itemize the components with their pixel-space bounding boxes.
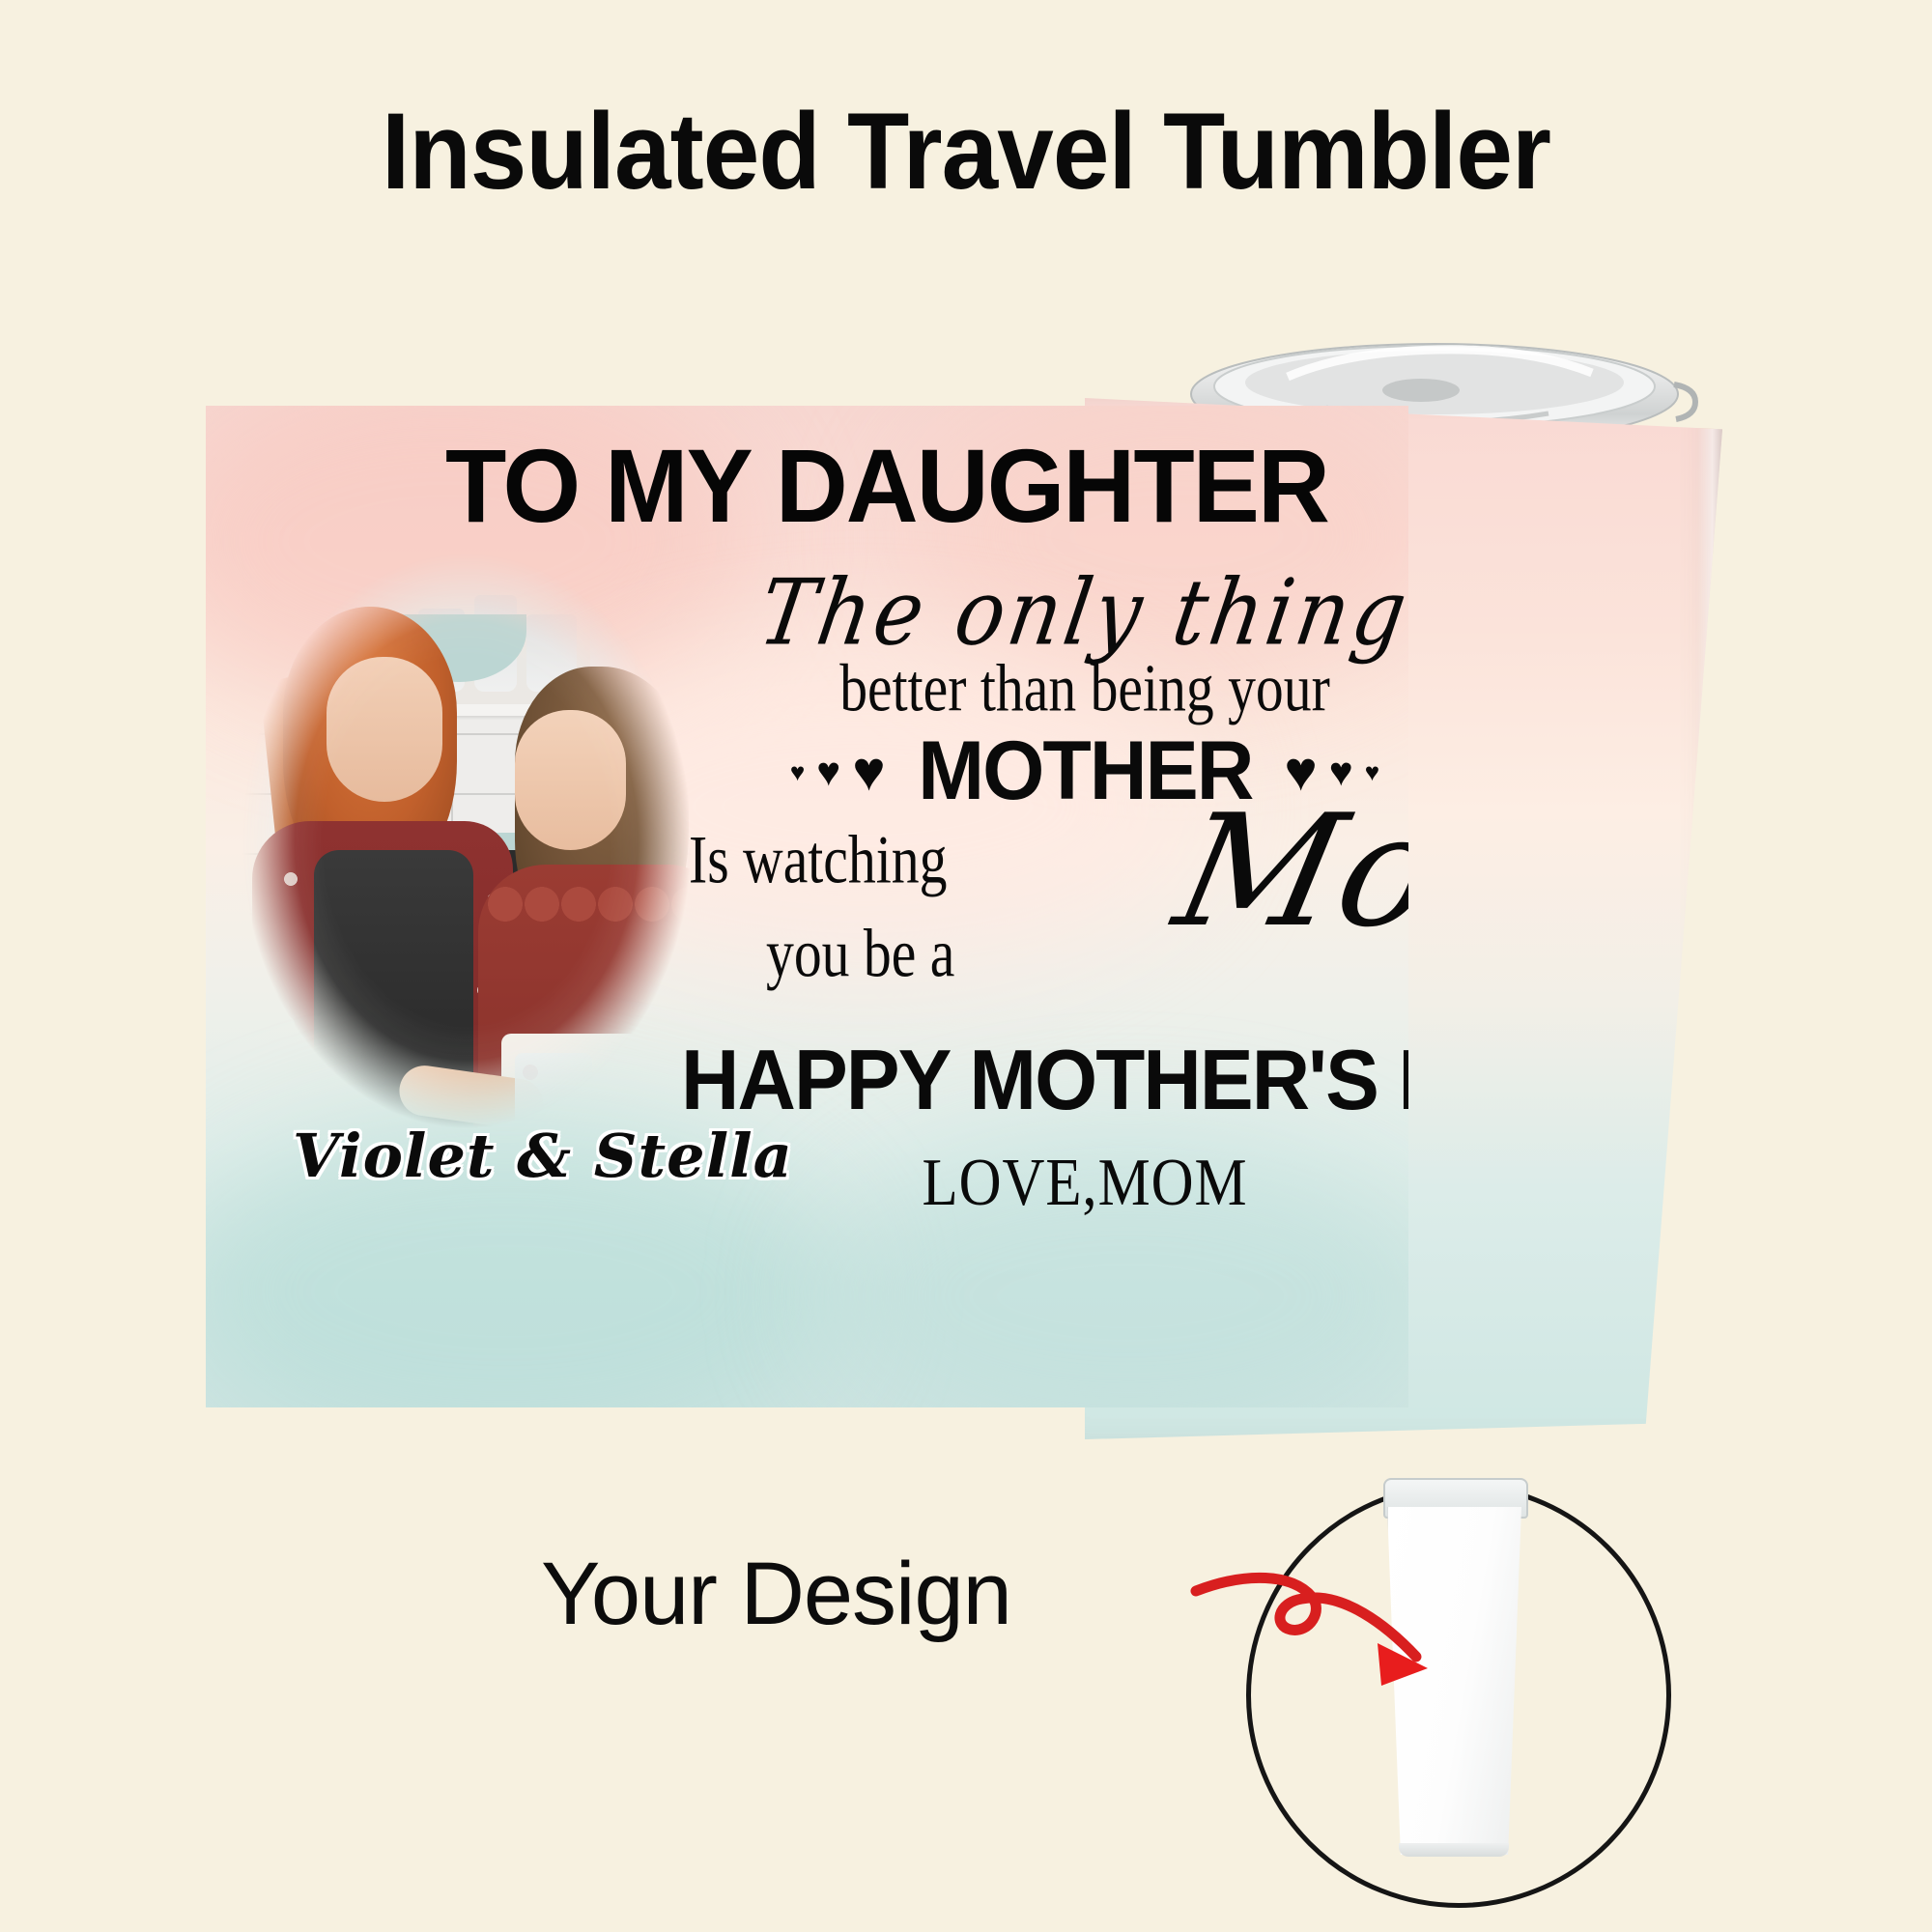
heart-icon: ♥ — [790, 759, 805, 784]
verse-serif-line-2: Is watching — [689, 822, 947, 900]
daughter-face — [515, 710, 626, 850]
blank-tumbler-base — [1399, 1843, 1509, 1857]
personalized-names: Violet & Stella — [293, 1121, 737, 1191]
design-headline: TO MY DAUGHTER — [382, 425, 1392, 546]
mom-script-word: Mom — [1162, 781, 1408, 961]
design-artwork-panel: Violet & Stella TO MY DAUGHTER The only … — [206, 406, 1408, 1407]
verse-script-line: The only thing — [652, 565, 1408, 661]
page-title: Insulated Travel Tumbler — [58, 89, 1874, 213]
verse-serif-line-3: you be a — [766, 916, 954, 994]
watching-block: Is watching you be a Mom — [660, 819, 1408, 1027]
photo-image — [225, 531, 708, 1150]
tumbler-graphic: Violet & Stella TO MY DAUGHTER The only … — [206, 338, 1751, 1430]
customer-photo — [225, 531, 708, 1150]
heart-icon: ♥ — [852, 744, 885, 800]
your-design-label: Your Design — [541, 1544, 1011, 1645]
mother-face — [327, 657, 442, 802]
heart-icon: ♥ — [816, 752, 840, 792]
product-mockup-page: Insulated Travel Tumbler — [0, 0, 1932, 1932]
closing-headline: HAPPY MOTHER'S DAY — [681, 1031, 1408, 1129]
verse-serif-line-1: better than being your — [690, 651, 1408, 728]
red-arrow-icon — [1188, 1550, 1478, 1763]
